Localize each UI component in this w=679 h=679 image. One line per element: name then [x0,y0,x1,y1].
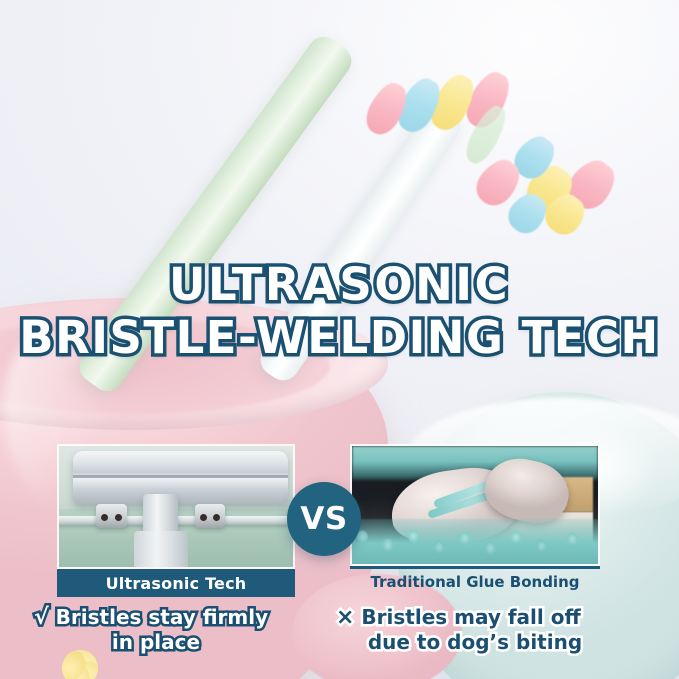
caption-ultrasonic: √ Bristles stay firmly in place [34,606,334,653]
teal-brush-pile [350,519,600,566]
welding-clamp-left [96,504,126,528]
vs-badge: VS [287,482,361,556]
ultrasonic-machine-photo [57,444,295,569]
ultrasonic-drum [73,451,288,504]
caption-ultrasonic-line-1: Bristles stay firmly [56,605,268,629]
comparison-panel-glue: Traditional Glue Bonding [350,444,600,595]
caption-ultrasonic-line-2: in place [34,631,334,653]
headline-line-1: ULTRASONIC [0,262,679,308]
welding-clamp-right [195,504,225,528]
headline: ULTRASONIC BRISTLE-WELDING TECH [0,262,679,361]
caption-glue-line-2: due to dog’s biting [336,631,654,653]
label-ultrasonic-tech: Ultrasonic Tech [57,569,295,597]
caption-glue-line-1: Bristles may fall off [361,605,580,629]
caption-glue: × Bristles may fall off due to dog’s bit… [336,606,654,653]
headline-line-2: BRISTLE-WELDING TECH [0,315,679,361]
checkmark-icon: √ [34,605,49,630]
machine-base [134,531,188,569]
cross-icon: × [336,605,354,630]
glue-bonding-photo [350,444,600,566]
product-marketing-image: ULTRASONIC BRISTLE-WELDING TECH Ultrason… [0,0,679,679]
label-traditional-glue-bonding: Traditional Glue Bonding [350,569,600,595]
comparison-panel-ultrasonic: Ultrasonic Tech [57,444,295,597]
